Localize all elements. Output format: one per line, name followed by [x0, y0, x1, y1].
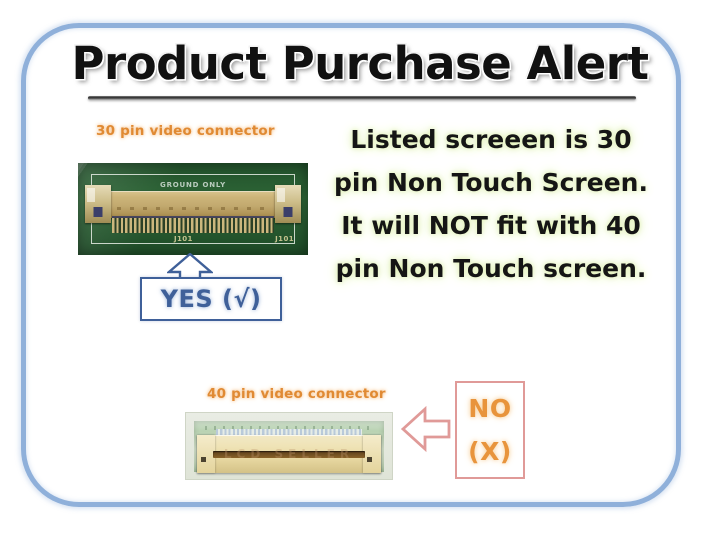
- verdict-box-yes: YES (√): [140, 277, 282, 321]
- latch-ear-highlight: [277, 188, 285, 202]
- title-underline-divider: [88, 96, 636, 100]
- connector-body-microtext: [117, 207, 269, 210]
- connector-gold-body: [98, 191, 288, 218]
- page-title: Product Purchase Alert: [72, 38, 649, 90]
- verdict-label-no-line2: (X): [457, 437, 523, 466]
- verdict-box-no: NO (X): [455, 381, 525, 479]
- verdict-label-yes: YES (√): [142, 279, 280, 319]
- latch-ear-highlight: [87, 188, 95, 202]
- pcb-ref-designator: J101: [275, 235, 294, 243]
- connector-pin-row-30: [112, 218, 274, 233]
- left-arrow-icon: [401, 404, 451, 454]
- connector-latch-ear-right: [275, 185, 301, 223]
- latch-ear-tab: [284, 207, 293, 217]
- page-title-container: Product Purchase Alert: [70, 38, 650, 90]
- caption-40-pin-video-connector: 40 pin video connector: [207, 386, 386, 402]
- pcb-ref-designator: J101: [174, 235, 193, 243]
- pcb-silkscreen-label: GROUND ONLY: [78, 181, 308, 189]
- product-purchase-alert-poster: Product Purchase Alert 30 pin video conn…: [0, 0, 720, 540]
- photo-watermark: LCD SELLER: [194, 447, 384, 461]
- verdict-label-no-line1: NO: [457, 394, 523, 423]
- photo-30-pin-connector: GROUND ONLY J101 J101: [78, 163, 308, 255]
- pcb-substrate: LCD SELLER: [194, 421, 384, 472]
- photo-40-pin-connector: LCD SELLER: [185, 412, 393, 480]
- connector-latch-ear-left: [85, 185, 111, 223]
- up-arrow-icon: [167, 253, 213, 280]
- caption-30-pin-video-connector: 30 pin video connector: [96, 123, 275, 139]
- alert-message-text: Listed screeen is 30 pin Non Touch Scree…: [332, 118, 650, 290]
- latch-ear-tab: [94, 207, 103, 217]
